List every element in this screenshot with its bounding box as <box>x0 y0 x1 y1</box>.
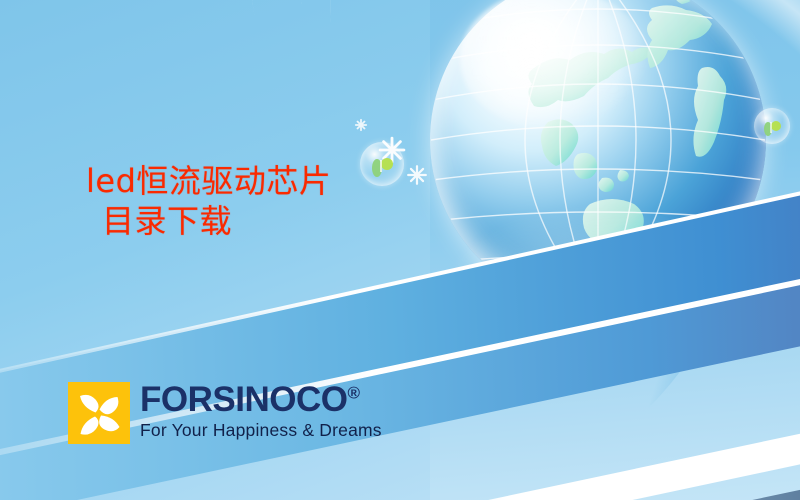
pinwheel-petals <box>68 382 130 444</box>
page-title: led恒流驱动芯片 目录下载 <box>86 162 331 241</box>
green-sprout-icon <box>360 142 404 186</box>
logo-text-block: FORSINOCO® For Your Happiness & Dreams <box>140 382 382 441</box>
four-petal-pinwheel-icon <box>68 382 130 444</box>
bubble-icon <box>754 108 790 144</box>
headline-line-2: 目录下载 <box>86 202 331 242</box>
bubble-icon <box>360 142 404 186</box>
green-sprout-icon <box>754 108 790 144</box>
registered-trademark-symbol: ® <box>347 383 360 402</box>
logo-wordmark-text: FORSINOCO <box>140 380 347 419</box>
led-driver-chip-catalog-banner: led恒流驱动芯片 目录下载 FORSINOCO® For Your Happi… <box>0 0 800 500</box>
headline-line-1: led恒流驱动芯片 <box>86 162 331 202</box>
sparkle-icon <box>354 118 368 132</box>
logo-wordmark: FORSINOCO® <box>140 382 382 417</box>
logo-tagline: For Your Happiness & Dreams <box>140 420 382 441</box>
sparkle-icon <box>406 164 428 186</box>
brand-logo: FORSINOCO® For Your Happiness & Dreams <box>68 382 382 444</box>
